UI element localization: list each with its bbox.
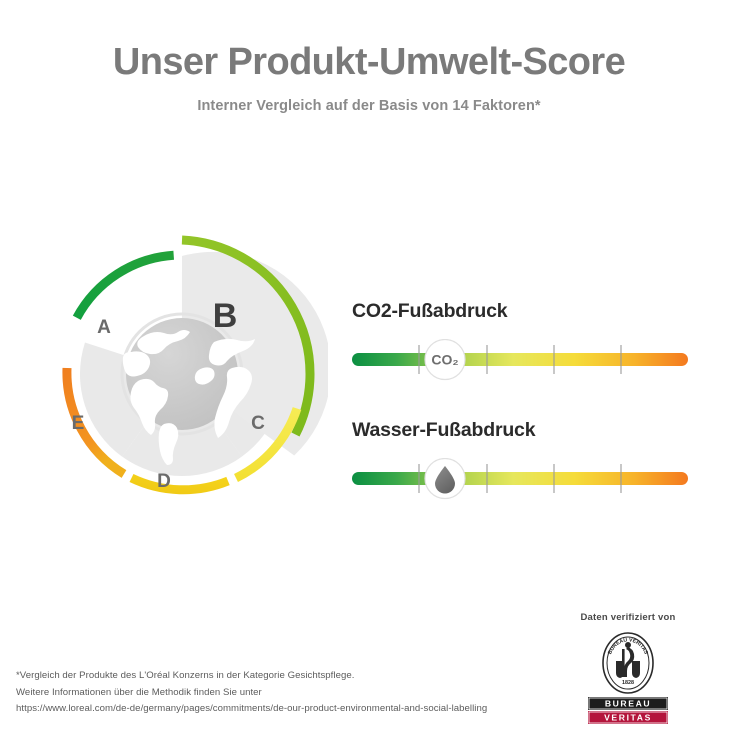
score-gauge-svg: A B C D E bbox=[36, 228, 328, 520]
seal-year: 1828 bbox=[622, 680, 634, 686]
water-footprint-block: Wasser-Fußabdruck bbox=[350, 419, 695, 500]
co2-footprint-title: CO2-Fußabdruck bbox=[352, 300, 695, 323]
gauge-label-e: E bbox=[72, 413, 85, 434]
co2-footprint-block: CO2-Fußabdruck bbox=[350, 300, 695, 381]
wordmark-veritas: VERITAS bbox=[604, 712, 652, 722]
bureau-veritas-wordmark: BUREAU VERITAS bbox=[588, 697, 668, 724]
co2-gradient-bar bbox=[352, 353, 688, 366]
gauge-label-c: C bbox=[251, 413, 265, 434]
footnote: *Vergleich der Produkte des L'Oréal Konz… bbox=[16, 668, 596, 718]
page-title: Unser Produkt-Umwelt-Score bbox=[0, 42, 738, 84]
product-environmental-score-infographic: Unser Produkt-Umwelt-Score Interner Verg… bbox=[0, 0, 738, 738]
header: Unser Produkt-Umwelt-Score Interner Verg… bbox=[0, 42, 738, 114]
footnote-url[interactable]: https://www.loreal.com/de-de/germany/pag… bbox=[16, 701, 596, 718]
co2-footprint-scale: CO₂ bbox=[350, 339, 690, 381]
water-footprint-title: Wasser-Fußabdruck bbox=[352, 419, 695, 442]
gauge-label-d: D bbox=[157, 471, 171, 492]
water-scale-svg bbox=[350, 458, 690, 500]
gauge-label-b: B bbox=[213, 297, 238, 335]
wordmark-bureau: BUREAU bbox=[605, 698, 651, 708]
verified-by-label: Daten verifiziert von bbox=[542, 612, 714, 623]
bureau-veritas-seal: BUREAU VERITAS 1828 bbox=[603, 633, 653, 693]
gauge-label-a: A bbox=[97, 317, 111, 338]
footprint-section: CO2-Fußabdruck bbox=[350, 300, 695, 538]
water-footprint-scale bbox=[350, 458, 690, 500]
footnote-line-1: *Vergleich der Produkte des L'Oréal Konz… bbox=[16, 668, 596, 685]
footnote-line-2: Weitere Informationen über die Methodik … bbox=[16, 685, 596, 702]
gauge-arc-a bbox=[73, 255, 178, 317]
water-gradient-bar bbox=[352, 472, 688, 485]
co2-scale-svg: CO₂ bbox=[350, 339, 690, 381]
score-gauge: A B C D E bbox=[36, 228, 328, 520]
page-subtitle: Interner Vergleich auf der Basis von 14 … bbox=[0, 98, 738, 114]
gauge-arc-d bbox=[132, 478, 229, 490]
co2-icon: CO₂ bbox=[431, 352, 458, 368]
